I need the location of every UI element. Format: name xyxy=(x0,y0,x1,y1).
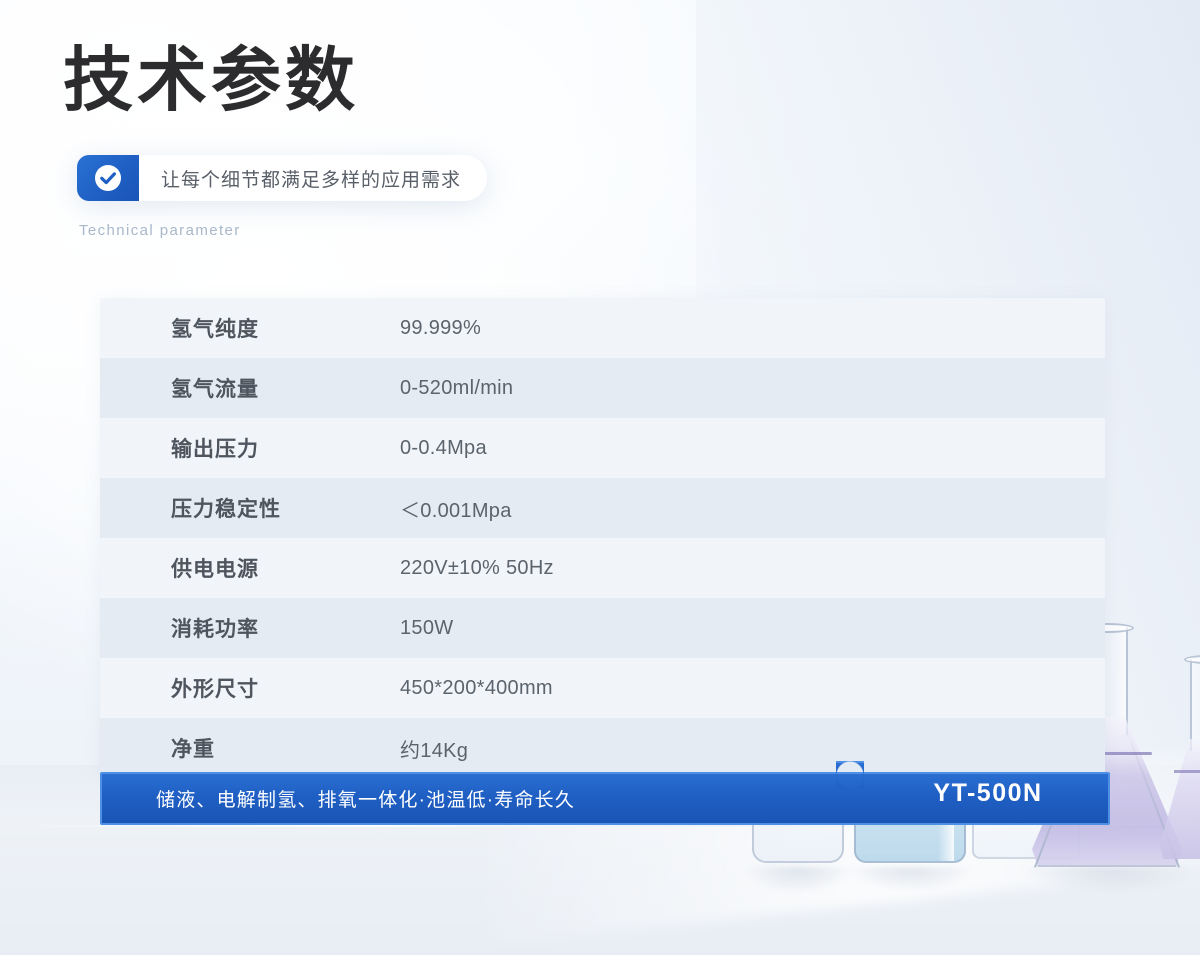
spec-value: 0-0.4Mpa xyxy=(400,437,487,460)
spec-label: 氢气纯度 xyxy=(100,313,400,343)
spec-value: 99.999% xyxy=(400,317,481,340)
spec-label: 供电电源 xyxy=(100,553,400,583)
table-row: 供电电源220V±10% 50Hz xyxy=(100,538,1105,598)
spec-label: 消耗功率 xyxy=(100,613,400,643)
spec-value: 0-520ml/min xyxy=(400,377,513,400)
table-row: 氢气流量0-520ml/min xyxy=(100,358,1105,418)
spec-label: 氢气流量 xyxy=(100,373,400,403)
tagline-banner: 让每个细节都满足多样的应用需求 xyxy=(77,155,487,201)
spec-label: 外形尺寸 xyxy=(100,673,400,703)
page-content: 技术参数 让每个细节都满足多样的应用需求 Technical parameter… xyxy=(0,0,1200,955)
table-row: 输出压力0-0.4Mpa xyxy=(100,418,1105,478)
subtitle-english: Technical parameter xyxy=(79,222,241,239)
banner-features-text: 储液、电解制氢、排氧一体化·池温低·寿命长久 xyxy=(156,772,575,825)
tagline-pill: 让每个细节都满足多样的应用需求 xyxy=(139,155,487,201)
spec-label: 输出压力 xyxy=(100,433,400,463)
table-row: 氢气纯度99.999% xyxy=(100,298,1105,358)
table-row: 消耗功率150W xyxy=(100,598,1105,658)
check-circle-icon xyxy=(77,155,139,201)
spec-label: 压力稳定性 xyxy=(100,493,400,523)
tagline-text: 让每个细节都满足多样的应用需求 xyxy=(161,165,461,192)
bottom-banner: YT-500N 储液、电解制氢、排氧一体化·池温低·寿命长久 xyxy=(100,772,1110,825)
model-number: YT-500N xyxy=(933,779,1042,808)
spec-value: 150W xyxy=(400,617,453,640)
table-row: 外形尺寸450*200*400mm xyxy=(100,658,1105,718)
table-row: 压力稳定性＜0.001Mpa xyxy=(100,478,1105,538)
spec-value: ＜0.001Mpa xyxy=(400,494,512,523)
spec-table: 氢气纯度99.999%氢气流量0-520ml/min输出压力0-0.4Mpa压力… xyxy=(100,298,1105,778)
model-tab-label-wrap: YT-500N xyxy=(836,761,1110,825)
page-title: 技术参数 xyxy=(63,44,359,117)
header-block: 技术参数 让每个细节都满足多样的应用需求 Technical parameter xyxy=(63,44,359,117)
spec-value: 约14Kg xyxy=(400,734,468,763)
spec-value: 450*200*400mm xyxy=(400,677,553,700)
spec-value: 220V±10% 50Hz xyxy=(400,557,554,580)
spec-label: 净重 xyxy=(100,733,400,763)
